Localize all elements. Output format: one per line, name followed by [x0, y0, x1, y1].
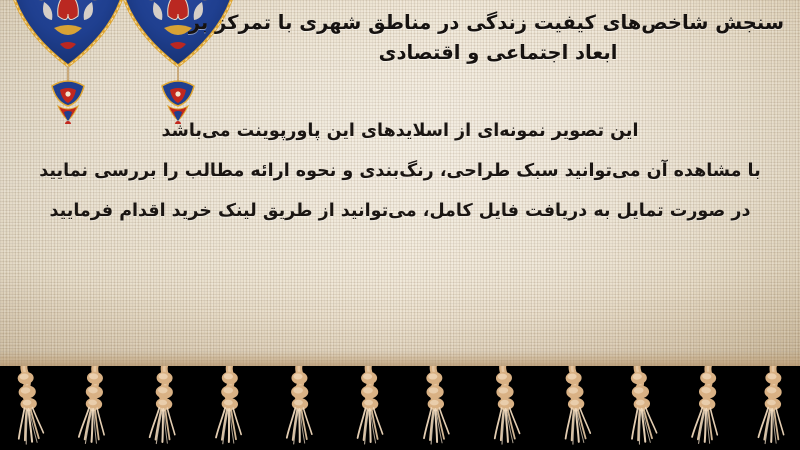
- slide-canvas: سنجش شاخص‌های کیفیت زندگی در مناطق شهری …: [0, 0, 800, 450]
- fringe-tassel: [346, 366, 390, 450]
- body-line-1: این تصویر نمونه‌ای از اسلایدهای این پاور…: [22, 112, 778, 152]
- body-line-2: با مشاهده آن می‌توانید سبک طراحی، رنگ‌بن…: [22, 152, 778, 192]
- fringe-tassel: [74, 366, 118, 450]
- title-line-2: ابعاد اجتماعی و اقتصادی: [212, 38, 784, 68]
- fringe-tassel: [414, 366, 458, 450]
- fringe-tassel: [210, 366, 254, 450]
- body-line-3: در صورت تمایل به دریافت فایل کامل، می‌تو…: [22, 192, 778, 232]
- fringe-tassel: [550, 366, 594, 450]
- fringe-tassel: [754, 366, 798, 450]
- slide-title: سنجش شاخص‌های کیفیت زندگی در مناطق شهری …: [212, 8, 784, 68]
- fringe-tassel: [278, 366, 322, 450]
- fringe-tassel: [6, 366, 50, 450]
- fringe-tassel: [618, 366, 662, 450]
- slide-body-text: این تصویر نمونه‌ای از اسلایدهای این پاور…: [22, 112, 778, 232]
- carpet-medallion-pendant-icon: [8, 0, 128, 124]
- carpet-fringe-tassels: [0, 366, 800, 450]
- fringe-tassel: [482, 366, 526, 450]
- title-line-1: سنجش شاخص‌های کیفیت زندگی در مناطق شهری …: [212, 8, 784, 38]
- fringe-tassel: [142, 366, 186, 450]
- fringe-tassel: [686, 366, 730, 450]
